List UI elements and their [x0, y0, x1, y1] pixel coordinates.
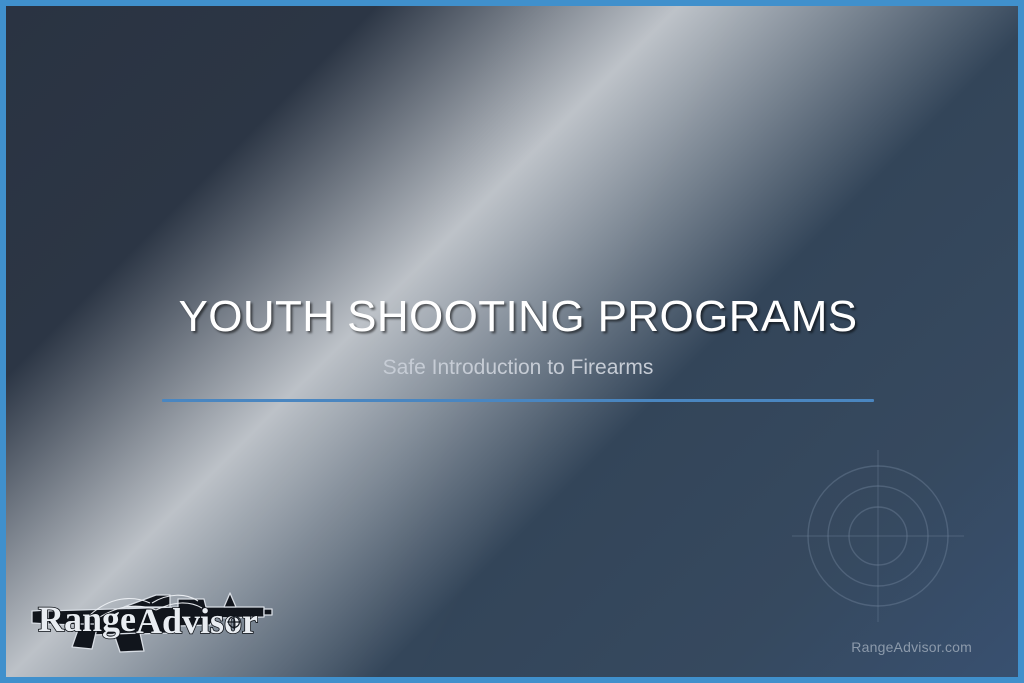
brand-logo: Range Advisor [28, 577, 274, 655]
accent-divider [162, 399, 874, 402]
footer-url: RangeAdvisor.com [851, 639, 972, 655]
title-slide: YOUTH SHOOTING PROGRAMS Safe Introductio… [0, 0, 1024, 683]
page-title: YOUTH SHOOTING PROGRAMS [162, 292, 874, 341]
title-block: YOUTH SHOOTING PROGRAMS Safe Introductio… [162, 292, 874, 402]
page-subtitle: Safe Introduction to Firearms [162, 355, 874, 380]
logo-wordmark-range: Range [38, 599, 136, 639]
crosshair-target-icon [790, 448, 966, 624]
